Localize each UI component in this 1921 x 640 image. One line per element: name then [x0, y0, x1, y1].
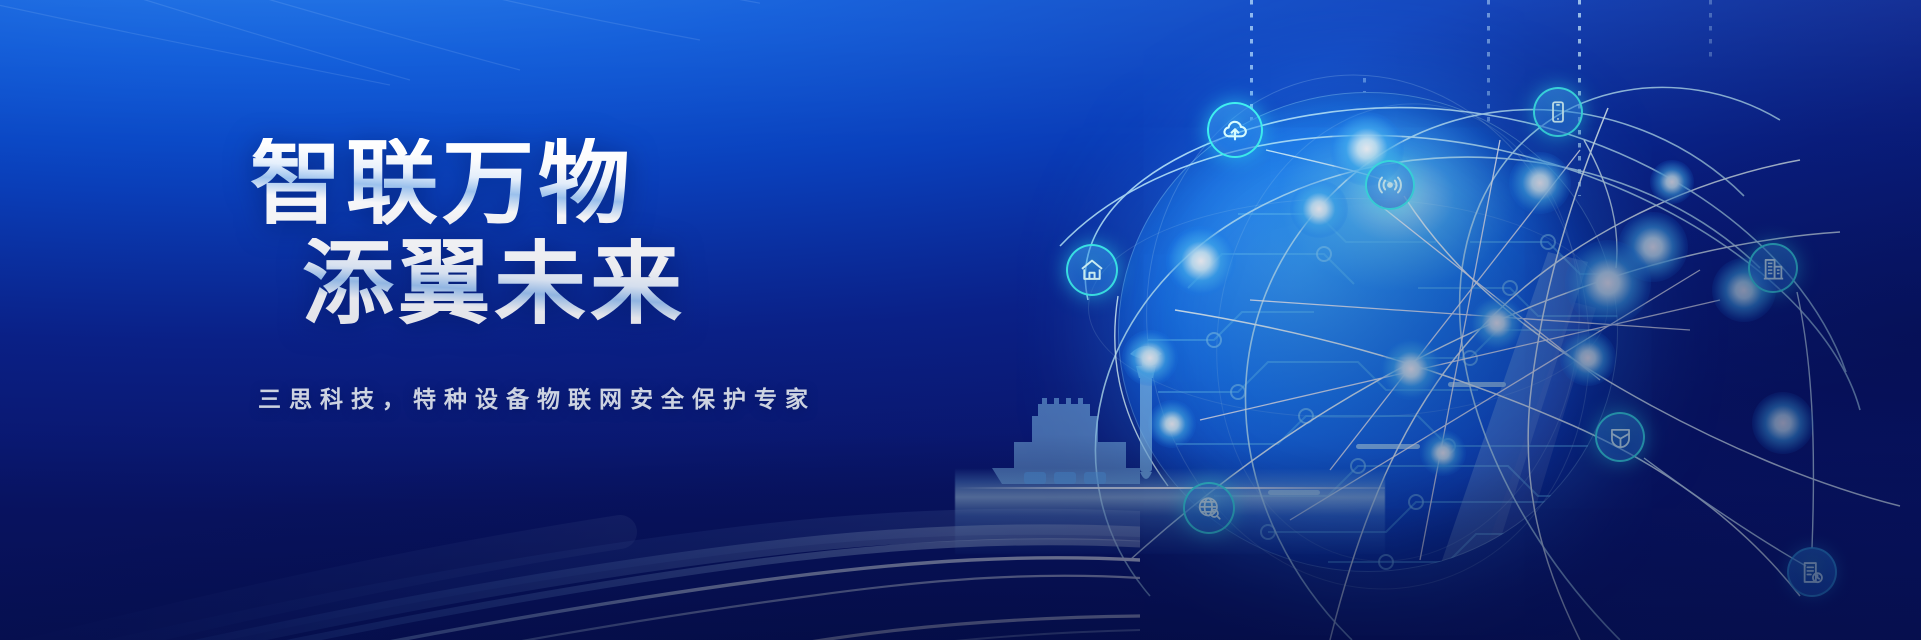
glow-node — [1650, 160, 1694, 204]
smartphone-icon[interactable] — [1533, 87, 1583, 137]
hero-banner: 智联万物 添翼未来 三思科技，特种设备物联网安全保护专家 — [0, 0, 1921, 640]
glow-node — [1618, 212, 1688, 282]
globe-net-icon[interactable] — [1183, 482, 1235, 534]
hero-subtitle: 三思科技，特种设备物联网安全保护专家 — [258, 380, 1010, 414]
report-doc-icon[interactable] — [1787, 547, 1837, 597]
harbour-scene — [980, 330, 1320, 530]
wifi-signal-icon[interactable] — [1365, 160, 1415, 210]
radar-tower — [1130, 346, 1162, 479]
dotted-line-5 — [1709, 0, 1712, 64]
headline-line-1: 智联万物 — [250, 138, 1010, 232]
shield-box-icon[interactable] — [1595, 412, 1645, 462]
glow-node — [1752, 392, 1814, 454]
cargo-ship-silhouette — [992, 398, 1140, 484]
cloud-upload-icon[interactable] — [1207, 102, 1263, 158]
home-icon[interactable] — [1066, 244, 1118, 296]
building-icon[interactable] — [1748, 243, 1798, 293]
headline-line-2: 添翼未来 — [302, 238, 1010, 332]
hero-text-block: 智联万物 添翼未来 三思科技，特种设备物联网安全保护专家 — [250, 138, 1010, 414]
